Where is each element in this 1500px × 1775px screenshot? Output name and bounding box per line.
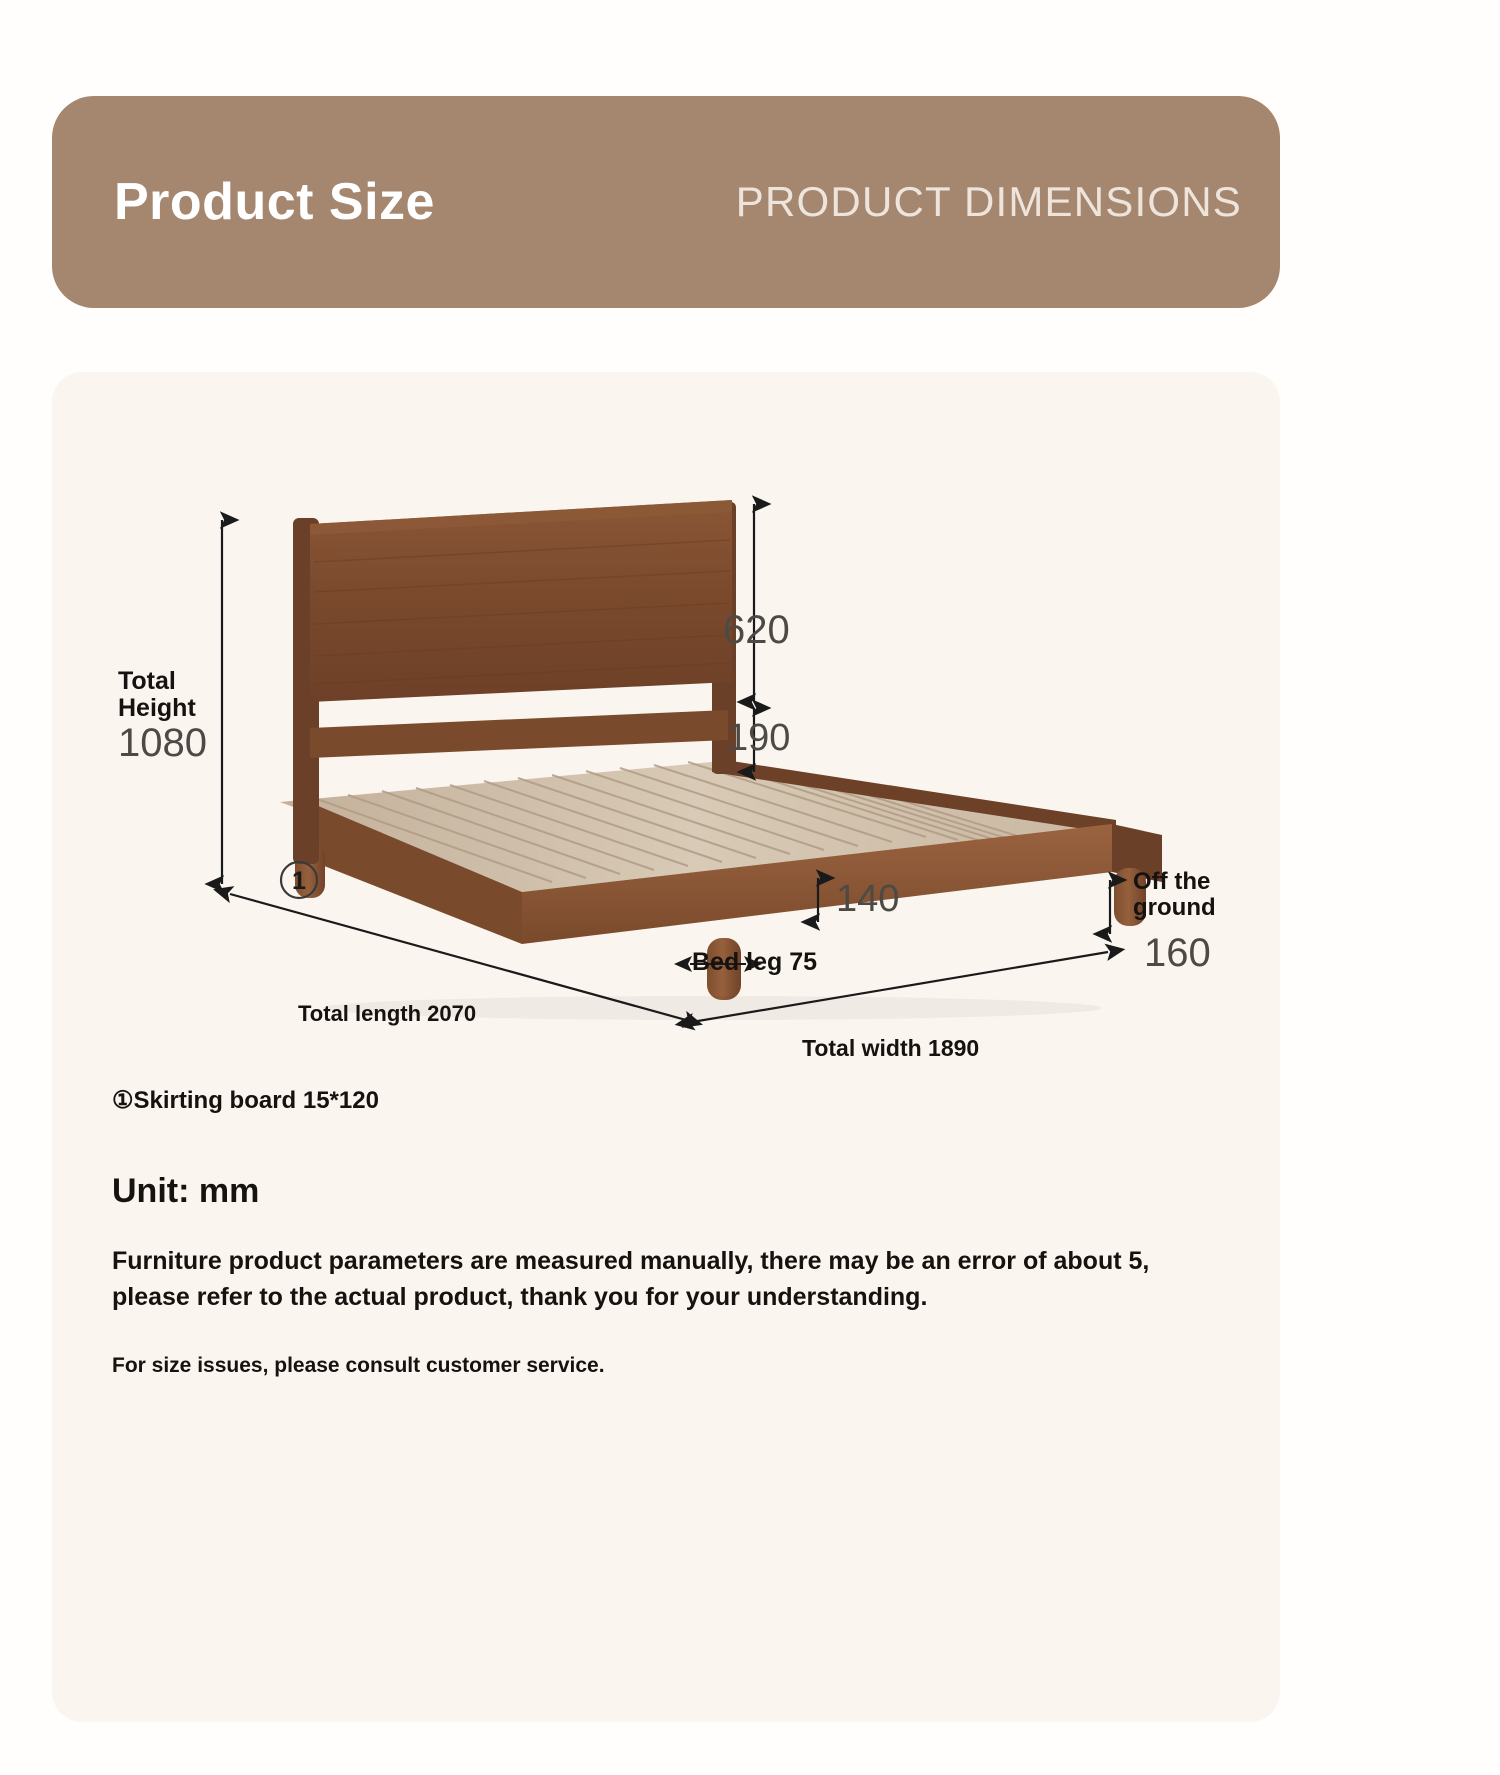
value-off-ground: 160: [1144, 932, 1211, 975]
value-frame-rail: 140: [836, 879, 899, 920]
page-subtitle: PRODUCT DIMENSIONS: [736, 178, 1242, 226]
callout-number: 1: [292, 867, 306, 895]
bed-illustration-svg: 1: [52, 372, 1280, 1072]
dimensions-card: 1 Total Height 1080 620 190 140 Off the …: [52, 372, 1280, 1722]
value-headboard-panel: 620: [723, 609, 790, 652]
bed-dimension-diagram: 1 Total Height 1080 620 190 140 Off the …: [52, 372, 1280, 1072]
label-total-height: Total Height: [118, 668, 196, 722]
label-total-width: Total width 1890: [802, 1036, 979, 1061]
label-off-ground: Off the ground: [1133, 869, 1216, 921]
bed-graphic: [280, 500, 1162, 1020]
value-total-height: 1080: [118, 722, 207, 765]
measurement-disclaimer: Furniture product parameters are measure…: [112, 1244, 1232, 1315]
page-header-banner: Product Size PRODUCT DIMENSIONS: [52, 96, 1280, 308]
label-total-length: Total length 2070: [298, 1002, 476, 1026]
skirting-board: [310, 710, 728, 758]
unit-label: Unit: mm: [112, 1172, 259, 1211]
label-bed-leg: Bed leg 75: [692, 949, 817, 976]
product-size-page: Product Size PRODUCT DIMENSIONS: [0, 0, 1500, 1775]
value-headboard-gap: 190: [727, 718, 790, 759]
page-title: Product Size: [114, 172, 435, 232]
customer-service-note: For size issues, please consult customer…: [112, 1354, 605, 1378]
footnote-skirting-board: ①Skirting board 15*120: [112, 1086, 379, 1115]
